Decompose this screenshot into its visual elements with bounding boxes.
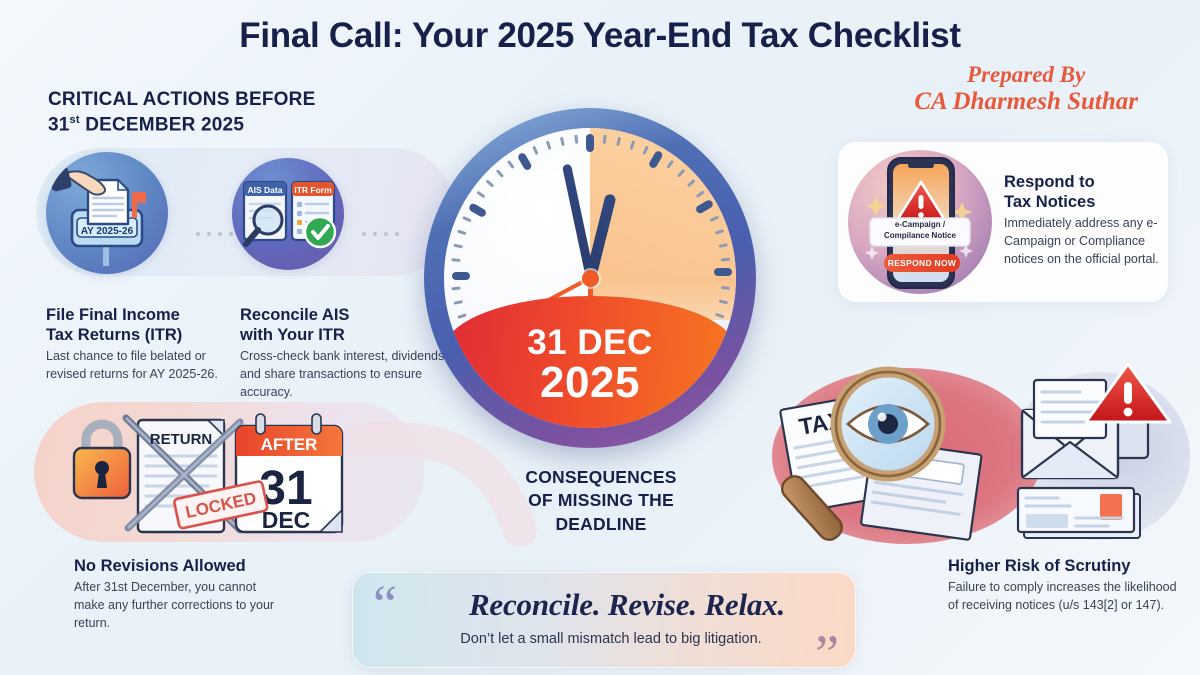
- notice-envelopes-icon: [1008, 358, 1188, 544]
- consequences-line2: OF MISSING THE: [528, 490, 674, 510]
- infographic-canvas: Final Call: Your 2025 Year-End Tax Check…: [0, 0, 1200, 675]
- clock-tick-minor: [457, 230, 466, 234]
- return-doc-text: RETURN: [150, 431, 213, 448]
- prepared-by-line2: CA Dharmesh Suthar: [914, 88, 1138, 116]
- respond-now-button[interactable]: RESPOND NOW: [884, 254, 960, 272]
- item-reconcile-body: Cross-check bank interest, dividends, an…: [240, 348, 455, 401]
- clock-tick-9: [452, 272, 470, 276]
- item-file-itr-body: Last chance to file belated or revised r…: [46, 348, 226, 384]
- item-scrutiny-text: Higher Risk of Scrutiny Failure to compl…: [948, 556, 1183, 615]
- ais-data-label: AIS Data: [244, 183, 286, 196]
- item-scrutiny-body: Failure to comply increases the likeliho…: [948, 579, 1183, 615]
- clock-tick-minor: [457, 314, 466, 318]
- clock-tick-10: [470, 202, 488, 214]
- left-heading-num: 31: [48, 114, 70, 135]
- left-section-heading: CRITICAL ACTIONS BEFORE 31st DECEMBER 20…: [48, 88, 315, 138]
- item-reconcile-title: Reconcile AISwith Your ITR: [240, 305, 455, 345]
- file-itr-icon: AY 2025-26: [46, 152, 168, 274]
- clock-tick-minor: [454, 244, 463, 247]
- clock-date-line1: 31 DEC: [527, 325, 653, 360]
- mailbox-hand-icon: [46, 152, 168, 274]
- left-heading-line2-rest: DECEMBER 2025: [80, 114, 244, 135]
- item-file-itr-title: File Final IncomeTax Returns (ITR): [46, 305, 226, 345]
- reconcile-ais-icon: AIS Data ITR Form: [232, 158, 344, 270]
- clock-tick-minor: [547, 141, 551, 150]
- calendar-header-text: AFTER: [261, 435, 318, 454]
- clock-tick-minor: [463, 216, 472, 221]
- respond-notices-body: Immediately address any e-Campaign or Co…: [1004, 215, 1164, 268]
- quote-open-mark: “: [373, 577, 397, 631]
- clock-tick-3: [714, 272, 732, 276]
- clock-tick-minor: [575, 135, 577, 144]
- consequences-line3: DEADLINE: [555, 514, 646, 534]
- mailbox-label: AY 2025-26: [74, 224, 140, 239]
- scrutiny-magnifier-icon: TAX: [770, 362, 1040, 552]
- left-heading-superscript: st: [70, 114, 80, 126]
- item-no-revisions-body: After 31st December, you cannot make any…: [74, 579, 289, 632]
- quote-banner: “ Reconcile. Revise. Relax. Don’t let a …: [352, 572, 856, 668]
- item-file-itr-text: File Final IncomeTax Returns (ITR) Last …: [46, 305, 226, 384]
- clock-date-line2: 2025: [540, 360, 640, 406]
- consequences-line1: CONSEQUENCES: [525, 467, 676, 487]
- itr-form-label: ITR Form: [292, 183, 334, 196]
- dot-connector-2: [362, 232, 399, 236]
- clock-face: 31 DEC 2025: [444, 128, 736, 428]
- left-heading-line1: CRITICAL ACTIONS BEFORE: [48, 89, 315, 110]
- documents-compare-icon: [232, 158, 344, 270]
- notice-toast-text: e-Campaign / Compilance Notice: [870, 220, 970, 242]
- clock-tick-minor: [477, 191, 485, 198]
- clock-tick-minor: [486, 180, 494, 187]
- quote-close-mark: ”: [815, 627, 839, 675]
- clock-tick-minor: [508, 160, 515, 168]
- clock-tick-minor: [561, 137, 564, 146]
- prepared-by: Prepared By CA Dharmesh Suthar: [914, 62, 1138, 116]
- clock-tick-minor: [451, 287, 460, 289]
- quote-main-text: Reconcile. Revise. Relax.: [417, 587, 837, 623]
- deadline-clock: 31 DEC 2025: [424, 108, 756, 448]
- clock-tick-minor: [451, 259, 460, 261]
- item-scrutiny-title: Higher Risk of Scrutiny: [948, 556, 1183, 576]
- clock-pivot: [582, 270, 599, 287]
- prepared-by-line1: Prepared By: [914, 62, 1138, 88]
- item-reconcile-text: Reconcile AISwith Your ITR Cross-check b…: [240, 305, 455, 402]
- locked-return-icon: AFTER 31 DEC RETURN LOCKED: [58, 404, 358, 540]
- respond-notices-icon: e-Campaign / Compilance Notice RESPOND N…: [848, 150, 992, 294]
- quote-sub-text: Don’t let a small mismatch lead to big l…: [401, 631, 821, 647]
- clock-tick-minor: [454, 301, 463, 304]
- clock-tick-minor: [497, 169, 504, 177]
- clock-tick-11: [520, 152, 532, 170]
- respond-notices-text: Respond toTax Notices Immediately addres…: [1004, 172, 1164, 269]
- consequences-heading: CONSEQUENCES OF MISSING THE DEADLINE: [470, 466, 732, 536]
- clock-date-band: 31 DEC 2025: [444, 296, 736, 428]
- item-no-revisions-title: No Revisions Allowed: [74, 556, 289, 576]
- calendar-month-text: DEC: [262, 507, 311, 533]
- respond-notices-title: Respond toTax Notices: [1004, 172, 1164, 212]
- page-title: Final Call: Your 2025 Year-End Tax Check…: [0, 16, 1200, 56]
- item-no-revisions-text: No Revisions Allowed After 31st December…: [74, 556, 289, 632]
- clock-tick-minor: [533, 146, 538, 155]
- clock-tick-12: [590, 134, 594, 152]
